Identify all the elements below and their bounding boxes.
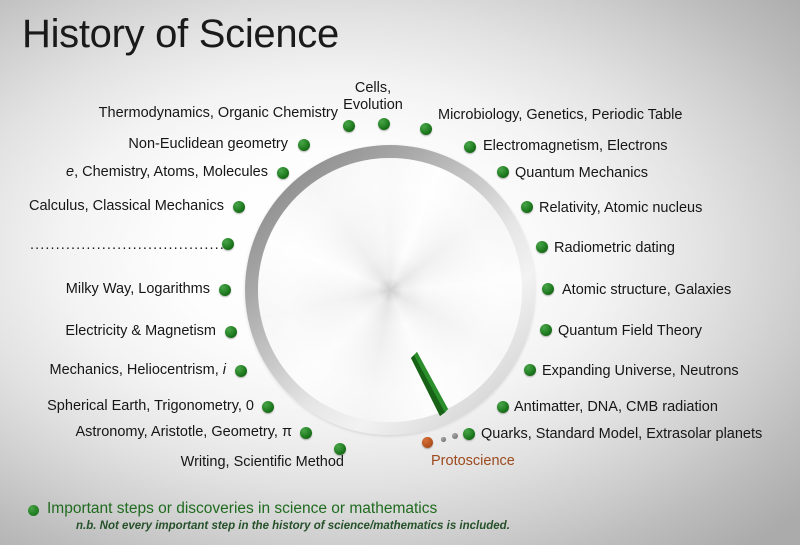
label-antimatter: Antimatter, DNA, CMB radiation bbox=[514, 399, 718, 416]
dot-microbiology bbox=[420, 123, 432, 135]
dot-radiometric-dating bbox=[536, 241, 548, 253]
label-quantum-field-theory: Quantum Field Theory bbox=[558, 323, 702, 340]
dot-antimatter bbox=[497, 401, 509, 413]
dot-relativity bbox=[521, 201, 533, 213]
dot-protoscience bbox=[422, 437, 433, 448]
label-electricity-magnetism: Electricity & Magnetism bbox=[40, 323, 216, 340]
dot-electricity-magnetism bbox=[225, 326, 237, 338]
label-calculus: Calculus, Classical Mechanics bbox=[18, 198, 224, 215]
label-quantum-mechanics: Quantum Mechanics bbox=[515, 165, 648, 182]
dot-ellipsis-gap bbox=[222, 238, 234, 250]
dot-spherical-earth bbox=[262, 401, 274, 413]
label-cells-line2: Evolution bbox=[343, 97, 403, 113]
ring-inner-face bbox=[258, 158, 522, 422]
label-mechanics-heliocentrism: Mechanics, Heliocentrism, i bbox=[28, 362, 226, 379]
label-thermodynamics: Thermodynamics, Organic Chemistry bbox=[60, 105, 338, 122]
dot-atomic-structure bbox=[542, 283, 554, 295]
label-cells-evolution: Cells, Evolution bbox=[325, 80, 421, 114]
legend-dot-icon bbox=[28, 505, 39, 516]
label-milky-way: Milky Way, Logarithms bbox=[40, 281, 210, 298]
dot-electromagnetism bbox=[464, 141, 476, 153]
dot-milky-way bbox=[219, 284, 231, 296]
label-radiometric-dating: Radiometric dating bbox=[554, 240, 675, 257]
legend-note-text: n.b. Not every important step in the his… bbox=[76, 520, 510, 532]
dot-quarks bbox=[463, 428, 475, 440]
legend-main-text: Important steps or discoveries in scienc… bbox=[47, 500, 437, 518]
label-non-euclidean: Non-Euclidean geometry bbox=[60, 136, 288, 153]
label-microbiology: Microbiology, Genetics, Periodic Table bbox=[438, 107, 682, 124]
dot-cells-evolution bbox=[378, 118, 390, 130]
dot-transition-large bbox=[452, 433, 458, 439]
label-atomic-structure: Atomic structure, Galaxies bbox=[562, 282, 731, 299]
label-writing-scientific-method: Writing, Scientific Method bbox=[110, 454, 344, 471]
label-cells-line1: Cells, bbox=[355, 80, 391, 96]
dot-quantum-field-theory bbox=[540, 324, 552, 336]
label-chemistry-atoms: e, Chemistry, Atoms, Molecules bbox=[20, 164, 268, 181]
dot-calculus bbox=[233, 201, 245, 213]
dot-chemistry-atoms bbox=[277, 167, 289, 179]
dot-quantum-mechanics bbox=[497, 166, 509, 178]
label-expanding-universe: Expanding Universe, Neutrons bbox=[542, 363, 739, 380]
dot-astronomy-aristotle bbox=[300, 427, 312, 439]
dot-non-euclidean bbox=[298, 139, 310, 151]
label-astronomy-aristotle: Astronomy, Aristotle, Geometry, π bbox=[20, 424, 292, 441]
progress-ring bbox=[245, 145, 535, 435]
label-spherical-earth: Spherical Earth, Trigonometry, 0 bbox=[18, 398, 254, 415]
label-ellipsis-gap: ....................................... bbox=[30, 237, 230, 253]
dot-expanding-universe bbox=[524, 364, 536, 376]
label-relativity: Relativity, Atomic nucleus bbox=[539, 200, 702, 217]
dot-mechanics-heliocentrism bbox=[235, 365, 247, 377]
dot-writing-scientific-method bbox=[334, 443, 346, 455]
slide-canvas: History of Science Thermodynamics, Organ… bbox=[0, 0, 800, 545]
dot-thermodynamics bbox=[343, 120, 355, 132]
label-electromagnetism: Electromagnetism, Electrons bbox=[483, 138, 668, 155]
label-quarks: Quarks, Standard Model, Extrasolar plane… bbox=[481, 426, 762, 443]
dot-transition-medium bbox=[441, 437, 446, 442]
label-protoscience: Protoscience bbox=[431, 453, 515, 470]
page-title: History of Science bbox=[22, 12, 339, 57]
